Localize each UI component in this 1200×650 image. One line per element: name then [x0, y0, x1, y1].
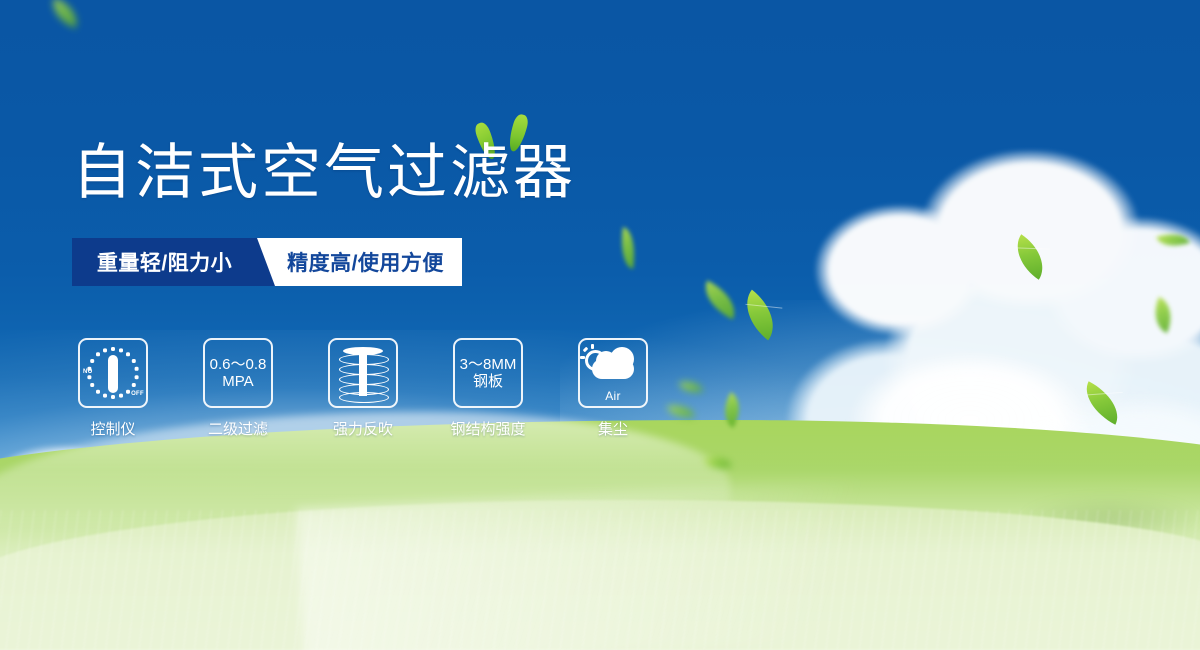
subtitle-bar: 重量轻/阻力小 精度高/使用方便	[72, 238, 462, 286]
gauge-label-off: OFF	[131, 391, 144, 397]
gauge-icon: NO OFF	[84, 344, 142, 402]
product-banner: 自洁式空气过滤器 重量轻/阻力小 精度高/使用方便	[0, 0, 1200, 650]
feature-label: 强力反吹	[314, 418, 412, 439]
feature-item-steel[interactable]: 3～8MM 钢板 钢结构强度	[453, 338, 523, 439]
feature-icon-box: Air	[578, 338, 648, 408]
feature-label: 钢结构强度	[439, 418, 537, 439]
feature-label: 控制仪	[64, 418, 162, 439]
feature-item-pressure[interactable]: 0.6～0.8 MPA 二级过滤	[203, 338, 273, 439]
feature-list: NO OFF 控制仪 0.6～0.8 MPA 二级过滤	[78, 338, 648, 439]
feature-label: 二级过滤	[189, 418, 287, 439]
subtitle-right: 精度高/使用方便	[257, 238, 462, 286]
feature-label: 集尘	[564, 418, 662, 439]
feature-icon-box: 3～8MM 钢板	[453, 338, 523, 408]
pressure-icon: 0.6～0.8 MPA	[210, 356, 267, 391]
feature-item-dust-collection[interactable]: Air 集尘	[578, 338, 648, 439]
air-label: Air	[584, 389, 642, 403]
subtitle-left: 重量轻/阻力小	[72, 238, 257, 286]
air-cloud-icon: Air	[584, 345, 642, 401]
feature-icon-box: NO OFF	[78, 338, 148, 408]
feature-item-blowback[interactable]: 强力反吹	[328, 338, 398, 439]
feature-icon-box: 0.6～0.8 MPA	[203, 338, 273, 408]
feature-item-control-gauge[interactable]: NO OFF 控制仪	[78, 338, 148, 439]
steel-plate-icon: 3～8MM 钢板	[460, 356, 517, 391]
feature-icon-box	[328, 338, 398, 408]
gauge-needle	[108, 355, 118, 393]
gauge-label-no: NO	[83, 369, 93, 375]
filter-stack-icon	[339, 347, 387, 399]
page-title: 自洁式空气过滤器	[72, 143, 576, 203]
